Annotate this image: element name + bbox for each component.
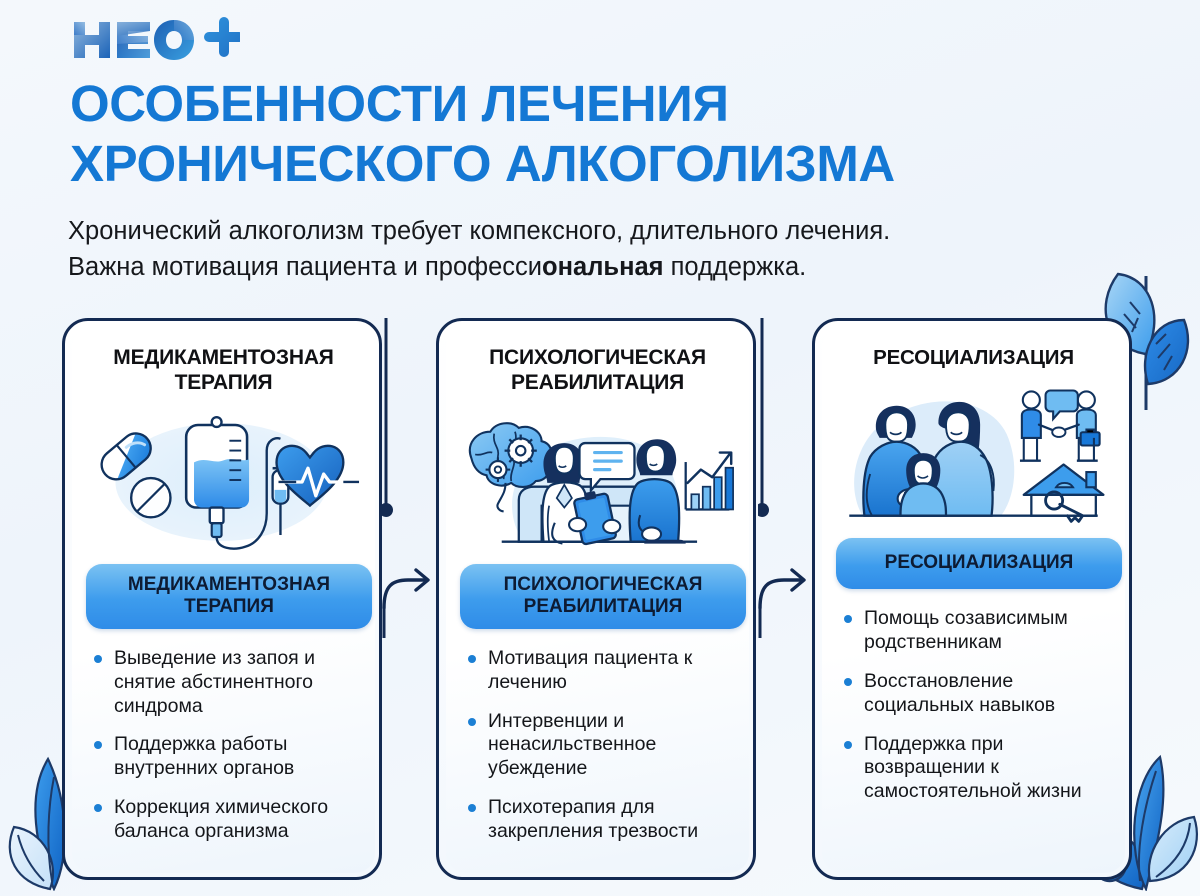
page-title-line-2: ХРОНИЧЕСКОГО АЛКОГОЛИЗМА: [70, 134, 1150, 194]
list-item: Выведение из запоя и снятие абстинентног…: [94, 647, 357, 718]
card-resocializaciya[interactable]: РЕСОЦИАЛИЗАЦИЯ: [812, 318, 1132, 880]
card-inner-3: РЕСОЦИАЛИЗАЦИЯ: [822, 328, 1125, 873]
card-badge-1-line-2: ТЕРАПИЯ: [184, 596, 274, 617]
card-badge-1-line-1: МЕДИКАМЕНТОЗНАЯ: [128, 574, 330, 595]
card-title-3: РЕСОЦИАЛИЗАЦИЯ: [836, 346, 1111, 370]
list-item: Интервенции и ненасильственное убеждение: [468, 710, 731, 781]
treatment-stage-cards: МЕДИКАМЕНТОЗНАЯ ТЕРАПИЯ: [0, 318, 1200, 888]
card-badge-3-line-1: РЕСОЦИАЛИЗАЦИЯ: [885, 552, 1074, 573]
card-title-2-line-2: РЕАБИЛИТАЦИЯ: [511, 371, 684, 394]
card-title-1-line-2: ТЕРАПИЯ: [175, 371, 273, 394]
page-subtitle: Хронический алкоголизм требует компексно…: [68, 213, 1078, 285]
page-subtitle-line-2-emphasis: ональная: [542, 253, 664, 281]
page-subtitle-line-1: Хронический алкоголизм требует компексно…: [68, 213, 1078, 249]
card-inner-1: МЕДИКАМЕНТОЗНАЯ ТЕРАПИЯ: [72, 328, 375, 873]
card-psihologicheskaya-reabilitaciya[interactable]: ПСИХОЛОГИЧЕСКАЯ РЕАБИЛИТАЦИЯ: [436, 318, 756, 880]
list-item: Коррекция химического баланса организма: [94, 796, 357, 844]
card-title-1: МЕДИКАМЕНТОЗНАЯ ТЕРАПИЯ: [86, 346, 361, 396]
card-badge-2-line-1: ПСИХОЛОГИЧЕСКАЯ: [504, 574, 703, 595]
list-item: Помощь созависимым родственникам: [844, 607, 1107, 655]
card-badge-1: МЕДИКАМЕНТОЗНАЯ ТЕРАПИЯ: [86, 564, 372, 629]
card-badge-2: ПСИХОЛОГИЧЕСКАЯ РЕАБИЛИТАЦИЯ: [460, 564, 746, 629]
brand-logo: [70, 16, 240, 69]
card-title-3-line-1: РЕСОЦИАЛИЗАЦИЯ: [873, 346, 1074, 369]
page-title-line-1: ОСОБЕННОСТИ ЛЕЧЕНИЯ: [70, 74, 1150, 134]
card-bullets-2: Мотивация пациента к лечению Интервенции…: [460, 647, 735, 843]
list-item: Поддержка работы внутренних органов: [94, 733, 357, 781]
page-subtitle-line-2-part-1: Важна мотивация пациента и професси: [68, 253, 542, 281]
card-bullets-1: Выведение из запоя и снятие абстинентног…: [86, 647, 361, 843]
page-subtitle-line-2-part-2: поддержка.: [664, 253, 807, 281]
list-item: Психотерапия для закрепления трезвости: [468, 796, 731, 844]
card-inner-2: ПСИХОЛОГИЧЕСКАЯ РЕАБИЛИТАЦИЯ: [446, 328, 749, 873]
page-subtitle-line-2: Важна мотивация пациента и профессиональ…: [68, 249, 1078, 285]
list-item: Мотивация пациента к лечению: [468, 647, 731, 695]
list-item: Восстановление социальных навыков: [844, 670, 1107, 718]
card-bullets-3: Помощь созависимым родственникам Восстан…: [836, 607, 1111, 803]
card-medikamentoznaya-terapiya[interactable]: МЕДИКАМЕНТОЗНАЯ ТЕРАПИЯ: [62, 318, 382, 880]
card-badge-3: РЕСОЦИАЛИЗАЦИЯ: [836, 538, 1122, 589]
neo-plus-logo-icon: [70, 16, 240, 64]
card-badge-2-line-2: РЕАБИЛИТАЦИЯ: [524, 596, 683, 617]
therapist-patient-illustration: [460, 402, 735, 560]
family-handshake-house-illustration: [836, 376, 1111, 534]
card-title-1-line-1: МЕДИКАМЕНТОЗНАЯ: [113, 346, 333, 369]
card-title-2: ПСИХОЛОГИЧЕСКАЯ РЕАБИЛИТАЦИЯ: [460, 346, 735, 396]
list-item: Поддержка при возвращении к самостоятель…: [844, 733, 1107, 804]
page-title: ОСОБЕННОСТИ ЛЕЧЕНИЯ ХРОНИЧЕСКОГО АЛКОГОЛ…: [70, 74, 1150, 194]
card-title-2-line-1: ПСИХОЛОГИЧЕСКАЯ: [489, 346, 706, 369]
pills-iv-drip-heart-ecg-illustration: [86, 402, 361, 560]
